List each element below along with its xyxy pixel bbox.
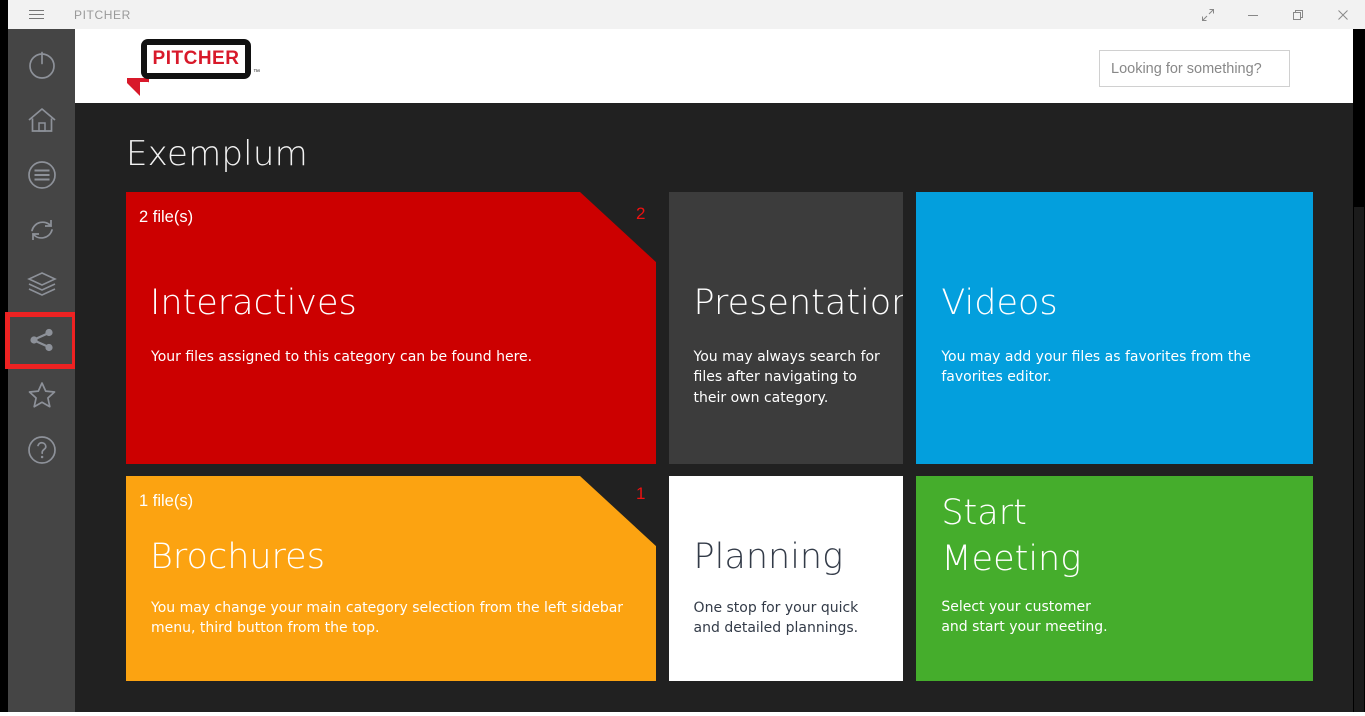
tile-planning[interactable]: Planning One stop for your quick and det… (669, 476, 904, 681)
vertical-scrollbar[interactable] (1353, 103, 1365, 716)
app-header: PITCHER ™ (75, 29, 1353, 103)
tile-row-2: 1 file(s) Brochures You may change your … (126, 476, 1313, 681)
logo-text: PITCHER (153, 48, 240, 70)
sidebar (8, 29, 75, 712)
tile-description: One stop for your quick and detailed pla… (694, 598, 859, 639)
sidebar-item-library[interactable] (8, 257, 75, 312)
sidebar-item-home[interactable] (8, 92, 75, 147)
close-icon[interactable] (1320, 0, 1365, 29)
tile-start-meeting[interactable]: Start Meeting Select your customer and s… (916, 476, 1313, 681)
sidebar-item-favorites[interactable] (8, 367, 75, 422)
tile-description: You may always search for files after na… (694, 347, 880, 408)
home-icon (25, 103, 59, 137)
pitcher-logo: PITCHER ™ (127, 34, 262, 96)
sidebar-item-sync[interactable] (8, 202, 75, 257)
logo-frame: PITCHER (141, 39, 251, 79)
expand-icon[interactable] (1185, 0, 1230, 29)
window-bottom-edge (0, 712, 1365, 716)
tile-row-1: 2 file(s) Interactives Your files assign… (126, 192, 1313, 464)
refresh-icon (25, 213, 59, 247)
tile-title: Interactives (150, 280, 357, 326)
tile-badge-interactives: 2 (636, 204, 645, 224)
tile-title: Start Meeting (941, 490, 1081, 582)
tile-grid: 2 file(s) Interactives Your files assign… (126, 192, 1313, 681)
share-icon (25, 323, 59, 357)
main-content: Exemplum 2 file(s) Interactives Your fil… (75, 103, 1353, 712)
tile-description: You may change your main category select… (151, 598, 623, 639)
layers-icon (25, 268, 59, 302)
tile-files-count: 1 file(s) (139, 492, 193, 511)
logo-trademark: ™ (253, 69, 260, 76)
tile-title: Brochures (150, 534, 325, 580)
page-title: Exemplum (126, 134, 308, 174)
sidebar-item-share[interactable] (8, 312, 75, 367)
search-box[interactable] (1099, 50, 1290, 87)
tile-title: Planning (694, 534, 844, 580)
tile-description: Select your customer and start your meet… (941, 597, 1107, 638)
tile-files-count: 2 file(s) (139, 208, 193, 227)
sidebar-item-power[interactable] (8, 37, 75, 92)
tile-title: Videos (941, 280, 1057, 326)
tile-description: You may add your files as favorites from… (941, 347, 1251, 388)
star-icon (25, 378, 59, 412)
restore-icon[interactable] (1275, 0, 1320, 29)
hamburger-icon[interactable] (16, 0, 56, 29)
sidebar-item-help[interactable] (8, 422, 75, 477)
tile-title: Presentations (694, 280, 904, 326)
window-controls (1185, 0, 1365, 29)
scrollbar-thumb[interactable] (1354, 207, 1364, 716)
search-input[interactable] (1100, 51, 1289, 86)
sidebar-item-categories[interactable] (8, 147, 75, 202)
tile-description: Your files assigned to this category can… (151, 347, 532, 367)
menu-list-icon (25, 158, 59, 192)
tile-presentations[interactable]: Presentations You may always search for … (669, 192, 904, 464)
power-icon (25, 48, 59, 82)
window-title: PITCHER (74, 8, 131, 22)
tile-videos[interactable]: Videos You may add your files as favorit… (916, 192, 1313, 464)
window-left-edge (0, 0, 8, 716)
help-icon (25, 433, 59, 467)
tile-badge-brochures: 1 (636, 484, 645, 504)
tile-brochures[interactable]: 1 file(s) Brochures You may change your … (126, 476, 656, 681)
title-bar: PITCHER (8, 0, 1365, 29)
tile-interactives[interactable]: 2 file(s) Interactives Your files assign… (126, 192, 656, 464)
minimize-icon[interactable] (1230, 0, 1275, 29)
app-window: PITCHER (0, 0, 1365, 716)
